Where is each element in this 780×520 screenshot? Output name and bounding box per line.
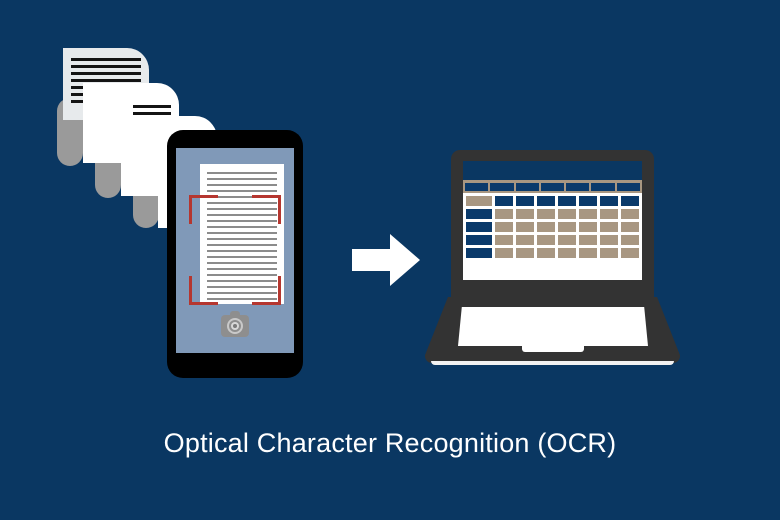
- data-cell[interactable]: [621, 222, 639, 232]
- spreadsheet-row: [466, 209, 639, 219]
- scan-bracket-top-left-icon: [189, 195, 218, 224]
- data-cell[interactable]: [579, 235, 597, 245]
- header-cell[interactable]: [579, 196, 597, 206]
- row-label-cell[interactable]: [466, 235, 492, 245]
- spreadsheet-header-row: [466, 196, 639, 206]
- row-label-cell[interactable]: [466, 209, 492, 219]
- scan-bracket-top-right-icon: [252, 195, 281, 224]
- phone-screen[interactable]: [176, 148, 294, 353]
- scan-bracket-bottom-left-icon: [189, 276, 218, 305]
- data-cell[interactable]: [516, 222, 534, 232]
- laptop-screen[interactable]: [463, 161, 642, 280]
- data-cell[interactable]: [579, 248, 597, 258]
- data-cell[interactable]: [621, 209, 639, 219]
- data-cell[interactable]: [537, 248, 555, 258]
- data-cell[interactable]: [579, 222, 597, 232]
- right-arrow-icon: [352, 234, 420, 286]
- camera-lens-core: [233, 324, 237, 328]
- spreadsheet-titlebar: [463, 161, 642, 180]
- data-cell[interactable]: [495, 222, 513, 232]
- data-cell[interactable]: [495, 235, 513, 245]
- data-cell[interactable]: [600, 222, 618, 232]
- header-cell[interactable]: [495, 196, 513, 206]
- data-cell[interactable]: [516, 209, 534, 219]
- toolbar-button[interactable]: [465, 183, 488, 191]
- laptop-keyboard[interactable]: [458, 307, 648, 346]
- data-cell[interactable]: [537, 209, 555, 219]
- header-cell[interactable]: [600, 196, 618, 206]
- data-cell[interactable]: [579, 209, 597, 219]
- spreadsheet-grid[interactable]: [463, 193, 642, 258]
- spreadsheet-row: [466, 222, 639, 232]
- data-cell[interactable]: [537, 222, 555, 232]
- header-cell[interactable]: [537, 196, 555, 206]
- laptop-foot: [431, 361, 674, 365]
- data-cell[interactable]: [600, 248, 618, 258]
- right-arrow-svg: [352, 234, 420, 286]
- ocr-illustration: Optical Character Recognition (OCR): [0, 0, 780, 520]
- data-cell[interactable]: [621, 235, 639, 245]
- data-cell[interactable]: [558, 209, 576, 219]
- page-title: Optical Character Recognition (OCR): [0, 428, 780, 459]
- data-cell[interactable]: [600, 235, 618, 245]
- toolbar-button[interactable]: [617, 183, 640, 191]
- camera-icon[interactable]: [221, 315, 249, 337]
- toolbar-button[interactable]: [541, 183, 564, 191]
- laptop: [425, 150, 680, 370]
- spreadsheet-row: [466, 248, 639, 258]
- data-cell[interactable]: [558, 248, 576, 258]
- scan-bracket-bottom-right-icon: [252, 276, 281, 305]
- data-cell[interactable]: [621, 248, 639, 258]
- spreadsheet-row: [466, 235, 639, 245]
- header-cell[interactable]: [516, 196, 534, 206]
- row-label-cell[interactable]: [466, 248, 492, 258]
- data-cell[interactable]: [495, 209, 513, 219]
- smartphone[interactable]: [167, 130, 303, 378]
- laptop-lid: [451, 150, 654, 302]
- row-label-cell[interactable]: [466, 222, 492, 232]
- toolbar-button[interactable]: [591, 183, 614, 191]
- spreadsheet-toolbar[interactable]: [463, 180, 642, 193]
- header-cell[interactable]: [558, 196, 576, 206]
- toolbar-button[interactable]: [566, 183, 589, 191]
- header-cell[interactable]: [621, 196, 639, 206]
- data-cell[interactable]: [516, 235, 534, 245]
- laptop-trackpad[interactable]: [522, 346, 584, 352]
- data-cell[interactable]: [600, 209, 618, 219]
- row-label-cell[interactable]: [466, 196, 492, 206]
- toolbar-button[interactable]: [516, 183, 539, 191]
- data-cell[interactable]: [495, 248, 513, 258]
- toolbar-button[interactable]: [490, 183, 513, 191]
- data-cell[interactable]: [537, 235, 555, 245]
- data-cell[interactable]: [516, 248, 534, 258]
- data-cell[interactable]: [558, 222, 576, 232]
- data-cell[interactable]: [558, 235, 576, 245]
